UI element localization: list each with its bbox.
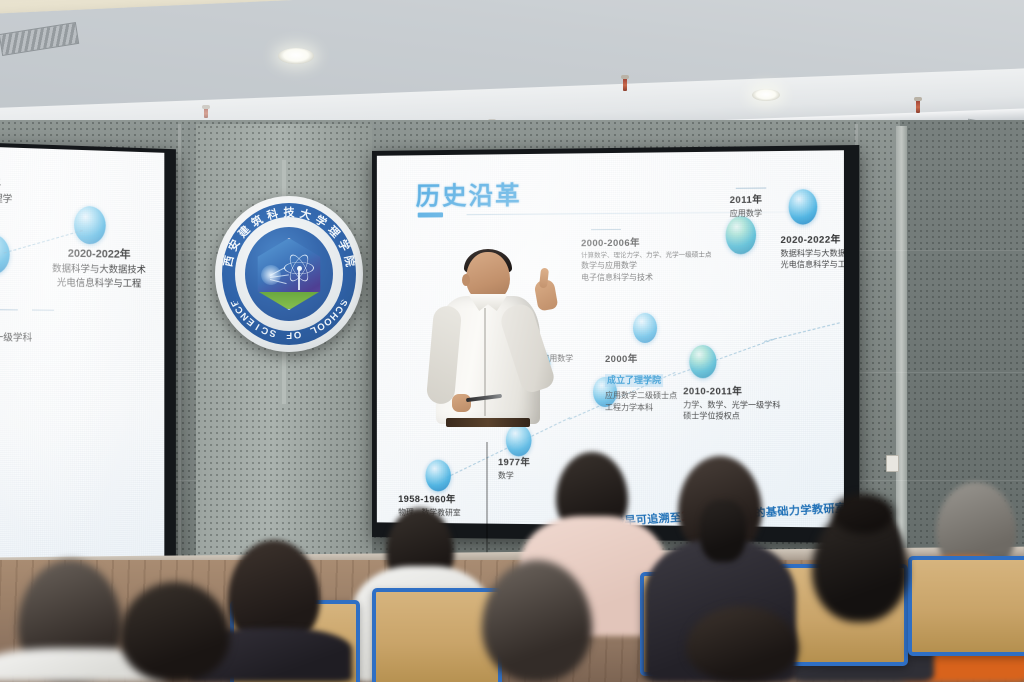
- left-node-line: 光电信息科学与工程: [52, 276, 146, 291]
- slide-title: 历史沿革: [416, 176, 522, 213]
- node-year: 2020-2022年: [780, 233, 843, 247]
- timeline-path: [764, 322, 840, 342]
- node-tick: [0, 309, 18, 310]
- node-line: 应用数学二级硕士点: [605, 390, 677, 402]
- node-line: 力学、数学、光学一级学科: [683, 399, 780, 411]
- audience-head: [700, 500, 746, 562]
- emblem-letter: F: [286, 330, 292, 341]
- timeline-node: 2000年 成立了理学院 应用数学二级硕士点 工程力学本科: [605, 353, 677, 413]
- timeline-node: 2000-2006年 计算数学、理论力学、力学、光学一级硕士点 数学与应用数学 …: [581, 236, 711, 283]
- node-line: 光电信息科学与工程: [780, 259, 843, 271]
- left-node-line: 物理学: [0, 192, 12, 207]
- hexagon-green-base: [256, 292, 322, 309]
- left-node-year: 2020-2022年: [52, 245, 146, 263]
- timeline-node: 2011年 应用数学: [730, 194, 763, 220]
- left-node-line: 学 一级学科: [0, 331, 32, 346]
- node-line: 工程力学本科: [605, 402, 677, 414]
- wall-seam: [178, 124, 181, 594]
- audience-head: [832, 494, 894, 534]
- title-accent-bar: [418, 212, 443, 217]
- left-slide-node: 学 一级学科: [0, 331, 32, 346]
- left-projection-screen: 1年 物理学 2020-2022年 数据科学与大数据技术 光电信息科学与工程 学…: [0, 147, 164, 589]
- timeline-path: [673, 339, 774, 376]
- emblem-core-disc: [245, 227, 333, 321]
- school-emblem: 西安建筑科技大学理学院 SCHOOL OF SCIENCE ★ ★: [215, 196, 363, 352]
- timeline-dot: [0, 234, 10, 275]
- atom-stem: [298, 268, 299, 290]
- emblem-mount: [282, 346, 286, 404]
- presenter-left-hand: [452, 394, 471, 412]
- timeline-dot: [726, 216, 756, 255]
- node-line: 电子信息科学与技术: [581, 271, 711, 283]
- hexagon-motif-icon: [255, 238, 323, 310]
- timeline-dot: [633, 313, 657, 343]
- timeline-node: 2020-2022年 数据科学与大数据技术 光电信息科学与工程: [780, 233, 843, 271]
- audience-head: [686, 606, 798, 682]
- downlight-icon: [278, 48, 314, 64]
- node-line: 应用数学: [730, 208, 763, 220]
- node-year: 2000年: [605, 353, 677, 367]
- node-tick: [591, 229, 621, 230]
- left-node-year: 1年: [0, 175, 12, 193]
- node-highlight: 成立了理学院: [605, 374, 663, 387]
- left-node-line: 数据科学与大数据技术: [52, 262, 146, 278]
- sprinkler-icon: [623, 78, 627, 91]
- atom-icon: [284, 253, 314, 283]
- timeline-dot: [74, 206, 106, 245]
- presenter-ear: [462, 274, 470, 286]
- sprinkler-icon: [916, 100, 920, 113]
- downlight-icon: [752, 89, 780, 101]
- timeline-dot: [789, 189, 818, 225]
- node-line: 硕士学位授权点: [683, 411, 780, 423]
- node-year: 2010-2011年: [683, 385, 780, 399]
- left-projection-screen-bezel: 1年 物理学 2020-2022年 数据科学与大数据技术 光电信息科学与工程 学…: [0, 143, 176, 602]
- left-slide-node: 1年 物理学: [0, 175, 12, 207]
- wall-outlet[interactable]: [886, 455, 899, 472]
- sprinkler-icon: [204, 108, 208, 118]
- timeline-dot: [689, 345, 716, 378]
- emblem-star-icon: ★: [231, 296, 240, 307]
- wall-pilaster: [896, 126, 907, 592]
- screenshot-scene: 西安建筑科技大学理学院 SCHOOL OF SCIENCE ★ ★: [0, 0, 1024, 682]
- node-year: 2000-2006年: [581, 236, 711, 251]
- node-year: 2011年: [730, 194, 763, 208]
- auditorium-seat[interactable]: [908, 556, 1024, 656]
- node-line: 数学与应用数学: [581, 260, 711, 272]
- left-slide-node: 2020-2022年 数据科学与大数据技术 光电信息科学与工程: [52, 245, 146, 291]
- node-tick: [32, 310, 54, 311]
- node-tick: [736, 188, 766, 189]
- timeline-node: 2010-2011年 力学、数学、光学一级学科 硕士学位授权点: [683, 385, 780, 423]
- node-line: 数据科学与大数据技术: [780, 247, 843, 259]
